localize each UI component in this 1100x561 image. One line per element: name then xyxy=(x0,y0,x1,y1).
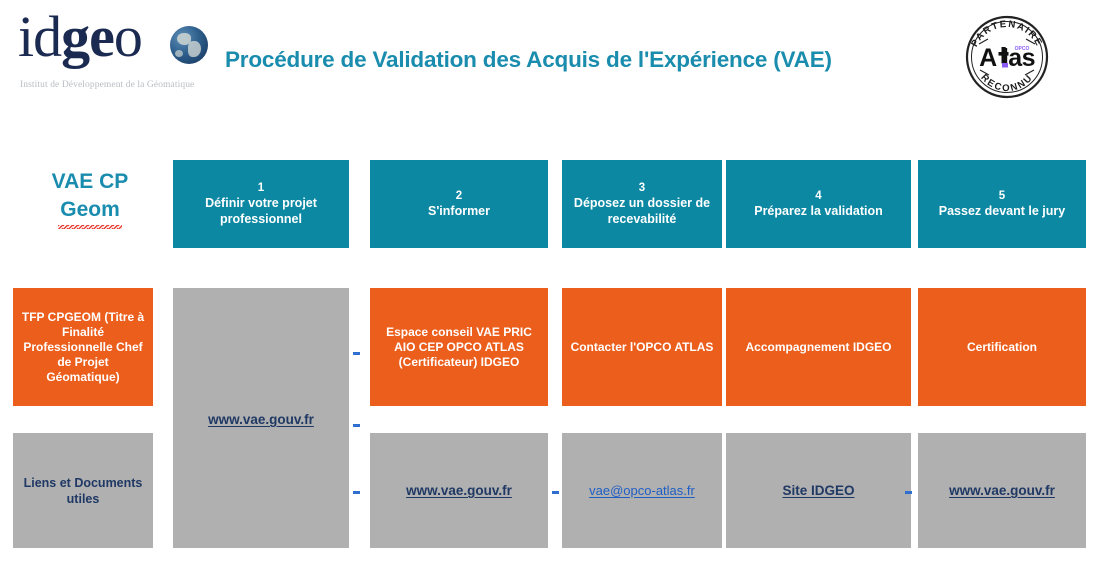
action-box-col2[interactable]: Espace conseil VAE PRIC AIO CEP OPCO ATL… xyxy=(370,288,548,406)
resource-link-col5[interactable]: www.vae.gouv.fr xyxy=(949,483,1055,498)
step-number-3: 3 xyxy=(568,181,716,196)
step-number-1: 1 xyxy=(179,181,343,196)
action-text-col4: Accompagnement IDGEO xyxy=(739,340,897,355)
resources-row-label-cell: Liens et Documents utiles xyxy=(13,433,153,548)
step-box-3[interactable]: 3 Déposez un dossier de recevabilité xyxy=(562,160,722,248)
step-box-4[interactable]: 4 Préparez la validation xyxy=(726,160,911,248)
idgeo-logo: idgeo Institut de Développement de la Gé… xyxy=(18,8,213,98)
step-label-2: S'informer xyxy=(428,204,490,220)
action-box-col4[interactable]: Accompagnement IDGEO xyxy=(726,288,911,406)
logo-subtitle: Institut de Développement de la Géomatiq… xyxy=(20,80,194,90)
row-label-line2-wrap: Geom xyxy=(20,196,160,224)
resource-cell-col3[interactable]: vae@opco-atlas.fr xyxy=(562,433,722,548)
svg-text:OPCO: OPCO xyxy=(1015,46,1030,52)
logo-text-ge: ge xyxy=(61,4,114,69)
step-box-1[interactable]: 1 Définir votre projet professionnel xyxy=(173,160,349,248)
action-text-col2: Espace conseil VAE PRIC AIO CEP OPCO ATL… xyxy=(370,325,548,370)
globe-icon xyxy=(170,26,208,64)
action-text-col5: Certification xyxy=(961,340,1043,355)
action-box-col0[interactable]: TFP CPGEOM (Titre à Finalité Professionn… xyxy=(13,288,153,406)
action-box-col5[interactable]: Certification xyxy=(918,288,1086,406)
resource-cell-col1[interactable]: www.vae.gouv.fr xyxy=(173,288,349,548)
step-label-3: Déposez un dossier de recevabilité xyxy=(568,196,716,227)
resources-row-label: Liens et Documents utiles xyxy=(13,475,153,507)
resource-link-col2[interactable]: www.vae.gouv.fr xyxy=(406,483,512,498)
step-box-5[interactable]: 5 Passez devant le jury xyxy=(918,160,1086,248)
idgeo-wordmark: idgeo xyxy=(18,8,142,66)
atlas-badge-icon: PARTENAIRE RECONNU A las OPCO xyxy=(958,8,1056,106)
connector-dash-5 xyxy=(905,491,912,494)
connector-dash-3 xyxy=(353,491,360,494)
page-title: Procédure de Validation des Acquis de l'… xyxy=(225,47,915,73)
step-label-4: Préparez la validation xyxy=(754,204,883,220)
action-box-col3[interactable]: Contacter l'OPCO ATLAS xyxy=(562,288,722,406)
row-label-line1: VAE CP xyxy=(20,168,160,196)
action-text-col3: Contacter l'OPCO ATLAS xyxy=(565,340,720,355)
atlas-partner-badge: PARTENAIRE RECONNU A las OPCO xyxy=(958,8,1056,106)
resource-link-col1[interactable]: www.vae.gouv.fr xyxy=(208,412,314,427)
logo-text-id: id xyxy=(18,4,61,69)
step-number-2: 2 xyxy=(428,189,490,204)
row-label-vae-cp-geom: VAE CP Geom xyxy=(20,168,160,224)
connector-dash-1 xyxy=(353,352,360,355)
action-text-col0: TFP CPGEOM (Titre à Finalité Professionn… xyxy=(13,310,153,385)
vae-procedure-diagram: idgeo Institut de Développement de la Gé… xyxy=(0,0,1100,561)
step-label-1: Définir votre projet professionnel xyxy=(179,196,343,227)
resource-link-col3[interactable]: vae@opco-atlas.fr xyxy=(589,483,695,498)
step-box-2[interactable]: 2 S'informer xyxy=(370,160,548,248)
step-number-5: 5 xyxy=(939,189,1065,204)
resource-link-col4[interactable]: Site IDGEO xyxy=(782,483,854,498)
logo-text-o: o xyxy=(114,4,142,69)
resource-cell-col2[interactable]: www.vae.gouv.fr xyxy=(370,433,548,548)
step-number-4: 4 xyxy=(754,189,883,204)
step-label-5: Passez devant le jury xyxy=(939,204,1065,220)
connector-dash-2 xyxy=(353,424,360,427)
resource-cell-col4[interactable]: Site IDGEO xyxy=(726,433,911,548)
header: idgeo Institut de Développement de la Gé… xyxy=(0,0,1100,120)
row-label-line2: Geom xyxy=(60,196,120,224)
connector-dash-4 xyxy=(552,491,559,494)
resource-cell-col5[interactable]: www.vae.gouv.fr xyxy=(918,433,1086,548)
